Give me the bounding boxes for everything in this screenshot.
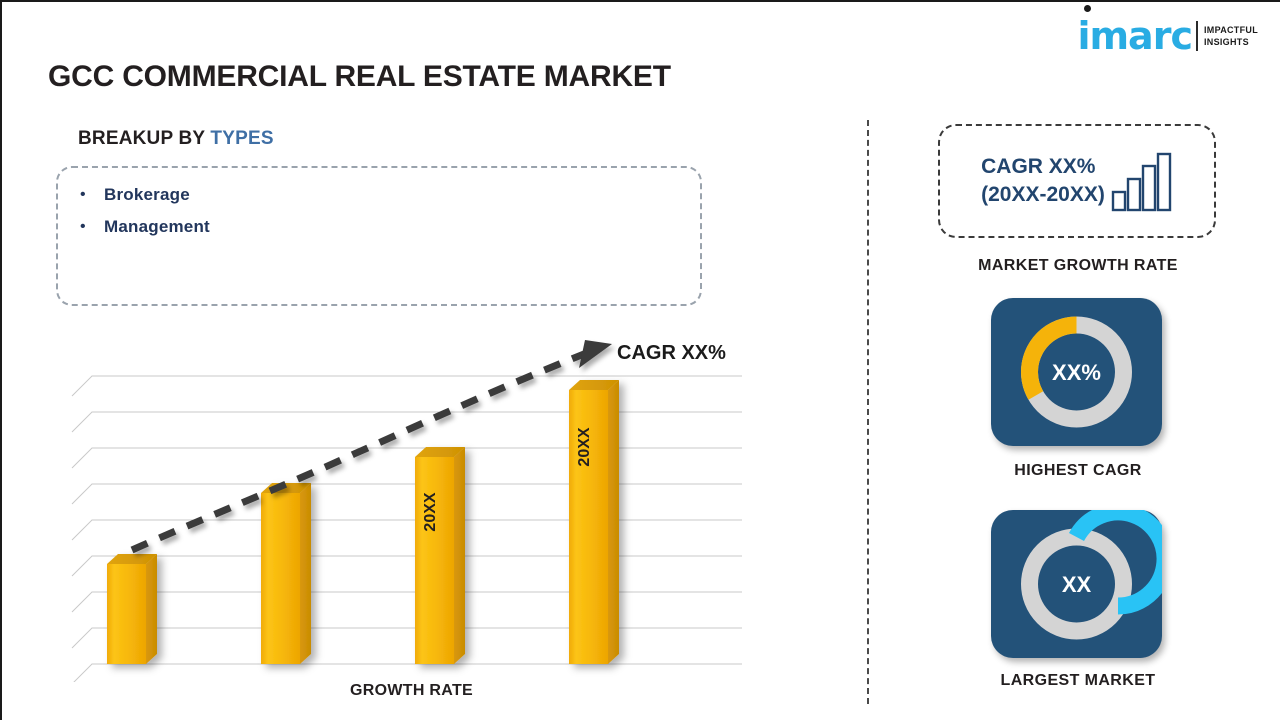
- chart-bar-label: 20XX: [576, 427, 593, 466]
- infographic-page: imarc IMPACTFUL INSIGHTS GCC COMMERCIAL …: [0, 0, 1280, 720]
- logo-tagline: IMPACTFUL INSIGHTS: [1204, 24, 1258, 48]
- highest-cagr-tile: XX%: [991, 298, 1162, 446]
- chart-bar: [415, 447, 465, 664]
- highest-cagr-donut: XX%: [991, 298, 1162, 446]
- chart-bar: [261, 483, 311, 664]
- chart-caption: GROWTH RATE: [350, 682, 473, 700]
- chart-svg: 20XX 20XX: [64, 332, 754, 682]
- logo-divider: [1196, 21, 1198, 51]
- chart-trendline: [132, 340, 612, 550]
- panel-divider: [867, 120, 869, 704]
- cagr-text: CAGR XX% (20XX-20XX): [981, 153, 1105, 209]
- section-title-prefix: BREAKUP BY: [78, 128, 210, 149]
- list-item: • Management: [80, 212, 700, 242]
- section-title: BREAKUP BY TYPES: [78, 128, 274, 150]
- breakup-types-box: • Brokerage • Management: [56, 166, 702, 306]
- growth-rate-chart: 20XX 20XX: [64, 332, 754, 682]
- list-item: • Brokerage: [80, 180, 700, 210]
- bullet-icon: •: [80, 180, 104, 210]
- cagr-line-2: (20XX-20XX): [981, 181, 1105, 209]
- list-item-label: Brokerage: [104, 185, 190, 205]
- chart-bar: [107, 554, 157, 664]
- chart-bar: [569, 380, 619, 664]
- logo-wordmark-text: imarc: [1077, 17, 1192, 55]
- ascending-bars-icon: [1111, 152, 1173, 217]
- highest-cagr-value: XX%: [1052, 360, 1101, 385]
- imarc-logo: imarc IMPACTFUL INSIGHTS: [1077, 14, 1258, 58]
- section-title-accent: TYPES: [210, 128, 273, 149]
- highest-cagr-caption: HIGHEST CAGR: [898, 462, 1258, 480]
- logo-dot-icon: [1084, 5, 1091, 12]
- logo-tagline-line1: IMPACTFUL: [1204, 24, 1258, 36]
- logo-wordmark-label: imarc: [1077, 14, 1192, 58]
- chart-cagr-annotation: CAGR XX%: [617, 342, 726, 365]
- page-title: GCC COMMERCIAL REAL ESTATE MARKET: [48, 60, 671, 94]
- largest-market-donut: XX: [991, 510, 1162, 658]
- chart-bar-label: 20XX: [422, 492, 439, 531]
- list-item-label: Management: [104, 217, 210, 237]
- largest-market-tile: XX: [991, 510, 1162, 658]
- largest-market-value: XX: [1062, 572, 1092, 597]
- largest-market-caption: LARGEST MARKET: [898, 672, 1258, 690]
- market-growth-rate-caption: MARKET GROWTH RATE: [898, 257, 1258, 275]
- logo-tagline-line2: INSIGHTS: [1204, 36, 1258, 48]
- market-growth-rate-box: CAGR XX% (20XX-20XX): [938, 124, 1216, 238]
- bullet-icon: •: [80, 212, 104, 242]
- cagr-line-1: CAGR XX%: [981, 153, 1105, 181]
